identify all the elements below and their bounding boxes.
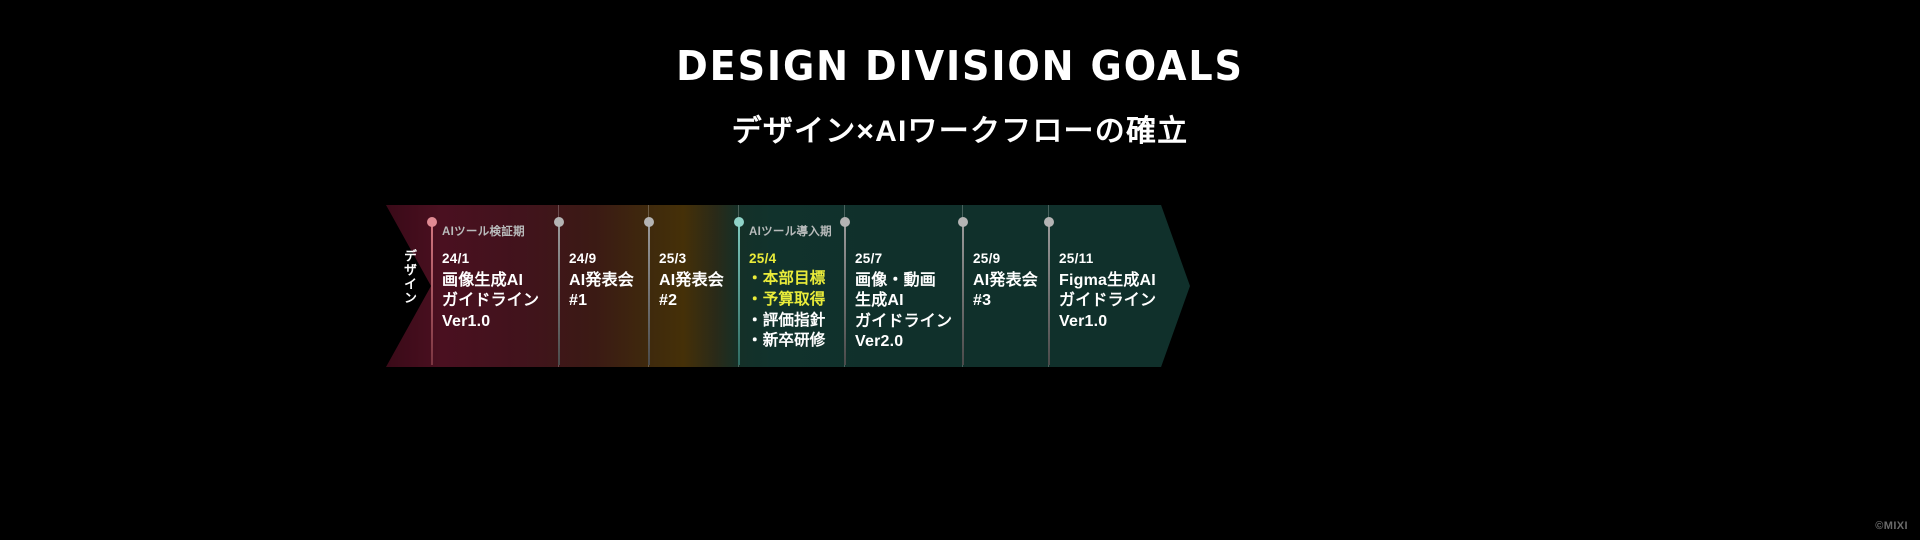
pin-stem <box>431 223 433 365</box>
milestone-date: 25/11 <box>1059 251 1094 266</box>
milestone-marker-pin <box>1048 217 1050 365</box>
page-subtitle: デザイン×AIワークフローの確立 <box>0 106 1920 150</box>
pin-stem <box>738 223 740 365</box>
pin-dot-icon <box>1044 217 1054 227</box>
milestone-date: 25/3 <box>659 251 686 266</box>
header: DESIGN DIVISION GOALS デザイン×AIワークフローの確立 <box>0 0 1920 150</box>
milestone-bullet-list: 本部目標 予算取得 評価指針 新卒研修 <box>747 269 842 352</box>
timeline-milestone[interactable]: AIツール検証期 24/1 画像生成AI ガイドライン Ver1.0 <box>432 205 558 367</box>
pin-stem <box>648 223 650 365</box>
milestone-date: 25/9 <box>973 251 1000 266</box>
pin-dot-icon <box>840 217 850 227</box>
list-item: 本部目標 <box>747 269 842 290</box>
pin-dot-icon <box>427 217 437 227</box>
milestone-marker-pin <box>738 217 740 365</box>
timeline-milestone[interactable]: 25/7 画像・動画 生成AI ガイドライン Ver2.0 <box>844 205 962 367</box>
list-item: 予算取得 <box>747 290 842 311</box>
timeline-milestone[interactable]: 25/11 Figma生成AI ガイドライン Ver1.0 <box>1048 205 1168 367</box>
milestone-date: 25/7 <box>855 251 882 266</box>
list-item: 評価指針 <box>747 311 842 332</box>
pin-stem <box>558 223 560 365</box>
pin-stem <box>1048 223 1050 365</box>
timeline-milestone[interactable]: 24/9 AI発表会 #1 <box>558 205 648 367</box>
pin-stem <box>844 223 846 365</box>
pin-dot-icon <box>554 217 564 227</box>
timeline-milestone-highlighted[interactable]: AIツール導入期 25/4 本部目標 予算取得 評価指針 新卒研修 <box>738 205 844 367</box>
phase-label: AIツール導入期 <box>749 223 832 239</box>
pin-dot-icon <box>958 217 968 227</box>
milestone-text: AI発表会 #3 <box>973 271 1044 312</box>
milestone-text: 画像・動画 生成AI ガイドライン Ver2.0 <box>855 271 958 353</box>
milestone-text: Figma生成AI ガイドライン Ver1.0 <box>1059 271 1164 332</box>
timeline-diagram: デザイン AIツール検証期 24/1 画像生成AI ガイドライン Ver1.0 … <box>386 205 1190 367</box>
pin-stem <box>962 223 964 365</box>
milestone-marker-pin <box>558 217 560 365</box>
phase-label: AIツール検証期 <box>442 223 525 239</box>
milestone-marker-pin <box>962 217 964 365</box>
milestone-text: AI発表会 #1 <box>569 271 644 312</box>
milestone-marker-pin <box>431 217 433 365</box>
timeline-axis-label: デザイン <box>394 249 416 305</box>
milestone-marker-pin <box>844 217 846 365</box>
timeline-columns: AIツール検証期 24/1 画像生成AI ガイドライン Ver1.0 24/9 … <box>432 205 1190 367</box>
page-title: DESIGN DIVISION GOALS <box>67 46 1853 87</box>
list-item: 新卒研修 <box>747 331 842 352</box>
pin-dot-icon <box>734 217 744 227</box>
milestone-text: AI発表会 #2 <box>659 271 734 312</box>
copyright-notice: ©MIXI <box>1875 520 1908 532</box>
milestone-date: 25/4 <box>749 251 776 266</box>
timeline-milestone[interactable]: 25/3 AI発表会 #2 <box>648 205 738 367</box>
milestone-date: 24/9 <box>569 251 596 266</box>
pin-dot-icon <box>644 217 654 227</box>
milestone-date: 24/1 <box>442 251 469 266</box>
milestone-marker-pin <box>648 217 650 365</box>
timeline-milestone[interactable]: 25/9 AI発表会 #3 <box>962 205 1048 367</box>
milestone-text: 画像生成AI ガイドライン Ver1.0 <box>442 271 554 332</box>
